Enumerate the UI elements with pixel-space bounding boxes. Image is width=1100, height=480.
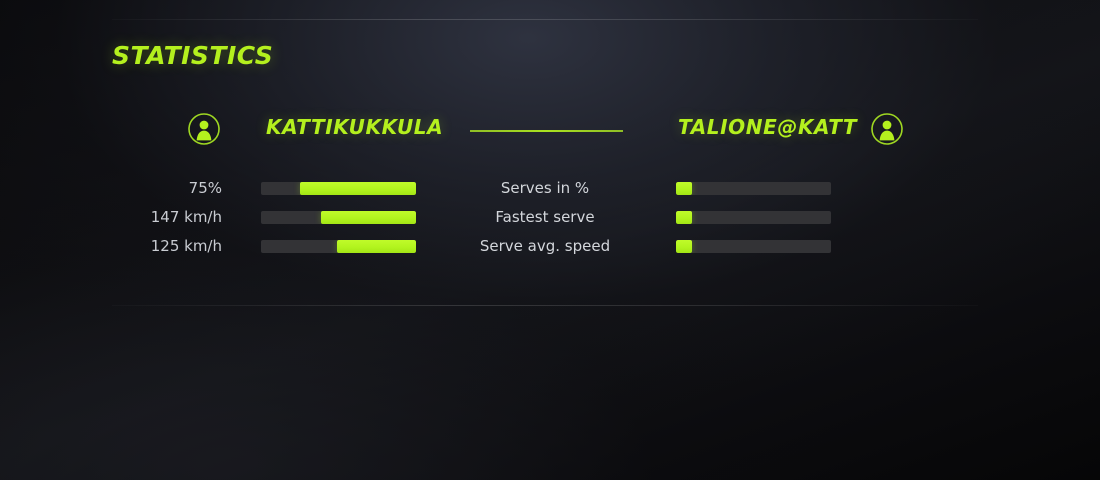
left-bar-fill [337,240,416,253]
player-name-right: TALIONE@KATT [678,115,857,139]
left-value: 147 km/h [100,207,222,227]
right-bar-fill [676,182,692,195]
person-avatar-icon[interactable] [187,112,221,146]
left-bar-track [261,182,416,195]
stat-label: Serves in % [434,178,656,198]
stat-label: Serve avg. speed [434,236,656,256]
table-row: 147 km/h Fastest serve [0,207,1100,236]
right-bar-fill [676,211,692,224]
left-value: 75% [100,178,222,198]
table-row: 125 km/h Serve avg. speed [0,236,1100,265]
stats-rows: 75% Serves in % 147 km/h Fastest serve 1… [0,178,1100,265]
right-bar-fill [676,240,692,253]
page-title: STATISTICS [112,41,273,70]
table-row: 75% Serves in % [0,178,1100,207]
right-bar-track [676,211,831,224]
right-bar-track [676,182,831,195]
bottom-divider [112,305,978,306]
left-bar-fill [300,182,416,195]
left-bar-track [261,240,416,253]
left-bar-track [261,211,416,224]
top-divider [112,19,978,20]
statistics-panel: STATISTICS KATTIKUKKULA TALIONE@KATT 75% [0,0,1100,480]
player-name-left: KATTIKUKKULA [266,115,443,139]
right-value [846,178,966,198]
stat-label: Fastest serve [434,207,656,227]
left-value: 125 km/h [100,236,222,256]
right-value [846,236,966,256]
person-avatar-icon[interactable] [870,112,904,146]
left-bar-fill [321,211,416,224]
right-value [846,207,966,227]
right-bar-track [676,240,831,253]
header-center-divider [470,130,623,132]
